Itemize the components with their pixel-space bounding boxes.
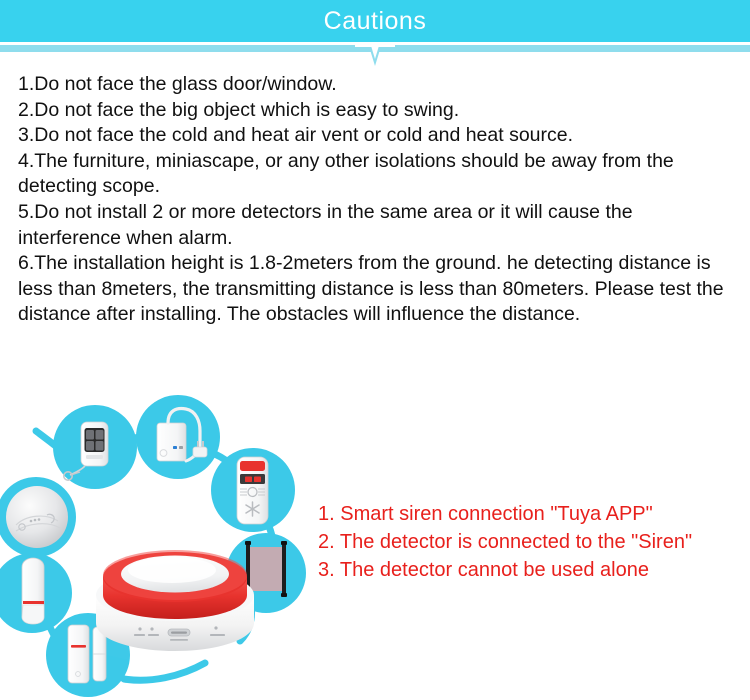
header-notch-icon — [355, 45, 395, 67]
motion-detector-icon — [22, 558, 44, 624]
node-pir-motion-detector — [0, 553, 72, 633]
node-gas-detector-with-plug — [136, 395, 220, 479]
caution-item-1: 1.Do not face the glass door/window. — [18, 72, 734, 98]
page-title: Cautions — [0, 0, 750, 42]
node-remote-control-keyfob — [53, 405, 137, 489]
caution-item-4: 4.The furniture, miniascape, or any othe… — [18, 149, 734, 200]
caution-item-3: 3.Do not face the cold and heat air vent… — [18, 123, 734, 149]
red-note-1: 1. Smart siren connection "Tuya APP" — [318, 500, 738, 528]
red-note-3: 3. The detector cannot be used alone — [318, 556, 738, 584]
smoke-detector-icon — [6, 486, 68, 548]
gas-alarm-icon — [237, 457, 268, 524]
device-ecosystem-diagram — [0, 395, 320, 700]
node-gas-alarm-detector — [211, 448, 295, 532]
node-smoke-detector — [0, 477, 76, 557]
center-smart-siren — [87, 550, 263, 663]
caution-item-6: 6.The installation height is 1.8-2meters… — [18, 251, 734, 328]
red-note-2: 2. The detector is connected to the "Sir… — [318, 528, 738, 556]
cautions-list: 1.Do not face the glass door/window. 2.D… — [18, 72, 734, 328]
caution-item-2: 2.Do not face the big object which is ea… — [18, 98, 734, 124]
red-notes-list: 1. Smart siren connection "Tuya APP" 2. … — [318, 500, 738, 584]
siren-usb-port — [168, 629, 190, 641]
caution-item-5: 5.Do not install 2 or more detectors in … — [18, 200, 734, 251]
